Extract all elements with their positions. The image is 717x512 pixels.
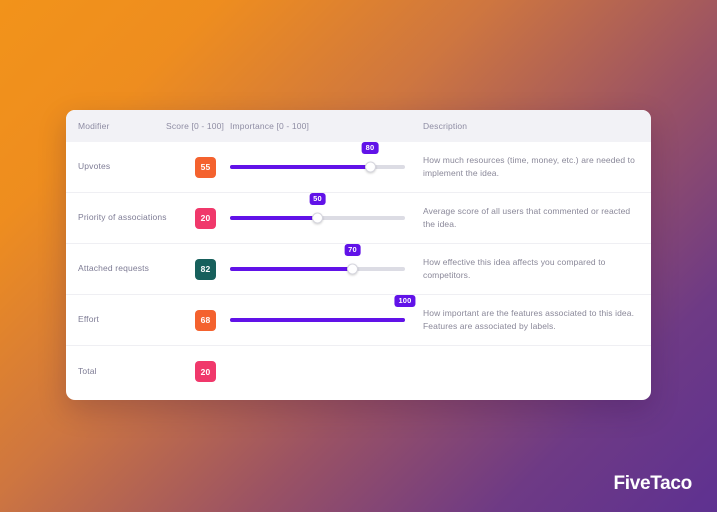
table-row: Total20 [66, 346, 651, 397]
description-text: How much resources (time, money, etc.) a… [423, 154, 635, 180]
score-badge: 20 [195, 208, 216, 229]
score-badge: 82 [195, 259, 216, 280]
importance-slider-cell[interactable]: 80 [230, 142, 405, 192]
slider-value-tooltip: 70 [344, 244, 361, 256]
slider-fill [230, 318, 405, 322]
slider-fill [230, 216, 318, 220]
importance-slider[interactable]: 80 [230, 154, 405, 180]
slider-fill [230, 267, 353, 271]
fivetaco-logo: FiveTaco [613, 473, 692, 495]
slider-thumb[interactable] [347, 264, 358, 275]
modifier-label: Priority of associations [78, 212, 183, 223]
importance-slider-cell[interactable]: 70 [230, 244, 405, 294]
description-text: How effective this idea affects you comp… [423, 256, 635, 282]
score-cell: 20 [183, 361, 228, 382]
table-header: Modifier Score [0 - 100] Importance [0 -… [66, 110, 651, 142]
column-header-description: Description [423, 121, 467, 131]
column-header-importance: Importance [0 - 100] [230, 121, 309, 131]
slider-value-tooltip: 100 [394, 295, 415, 307]
table-row: Priority of associations2050Average scor… [66, 193, 651, 244]
score-cell: 55 [183, 157, 228, 178]
importance-slider[interactable]: 70 [230, 256, 405, 282]
table-row: Attached requests8270How effective this … [66, 244, 651, 295]
description-text: Average score of all users that commente… [423, 205, 635, 231]
score-badge: 68 [195, 310, 216, 331]
modifier-label: Total [78, 366, 183, 377]
modifier-label: Upvotes [78, 161, 183, 172]
score-cell: 68 [183, 310, 228, 331]
description-text: How important are the features associate… [423, 307, 635, 333]
column-header-modifier: Modifier [78, 121, 109, 131]
importance-slider-cell[interactable]: 50 [230, 193, 405, 243]
score-cell: 20 [183, 208, 228, 229]
table-row: Effort68100How important are the feature… [66, 295, 651, 346]
slider-track[interactable] [230, 165, 405, 169]
importance-slider-cell[interactable]: 100 [230, 295, 405, 345]
table-row: Upvotes5580How much resources (time, mon… [66, 142, 651, 193]
slider-value-tooltip: 80 [362, 142, 379, 154]
score-cell: 82 [183, 259, 228, 280]
table-body: Upvotes5580How much resources (time, mon… [66, 142, 651, 397]
importance-slider[interactable]: 100 [230, 307, 405, 333]
slider-value-tooltip: 50 [309, 193, 326, 205]
modifier-label: Attached requests [78, 263, 183, 274]
slider-track[interactable] [230, 318, 405, 322]
importance-slider[interactable]: 50 [230, 205, 405, 231]
slider-fill [230, 165, 370, 169]
column-header-score: Score [0 - 100] [166, 121, 224, 131]
slider-thumb[interactable] [312, 213, 323, 224]
slider-thumb[interactable] [365, 162, 376, 173]
modifier-label: Effort [78, 314, 183, 325]
score-badge: 55 [195, 157, 216, 178]
scoring-table-card: Modifier Score [0 - 100] Importance [0 -… [66, 110, 651, 400]
score-badge: 20 [195, 361, 216, 382]
slider-track[interactable] [230, 267, 405, 271]
